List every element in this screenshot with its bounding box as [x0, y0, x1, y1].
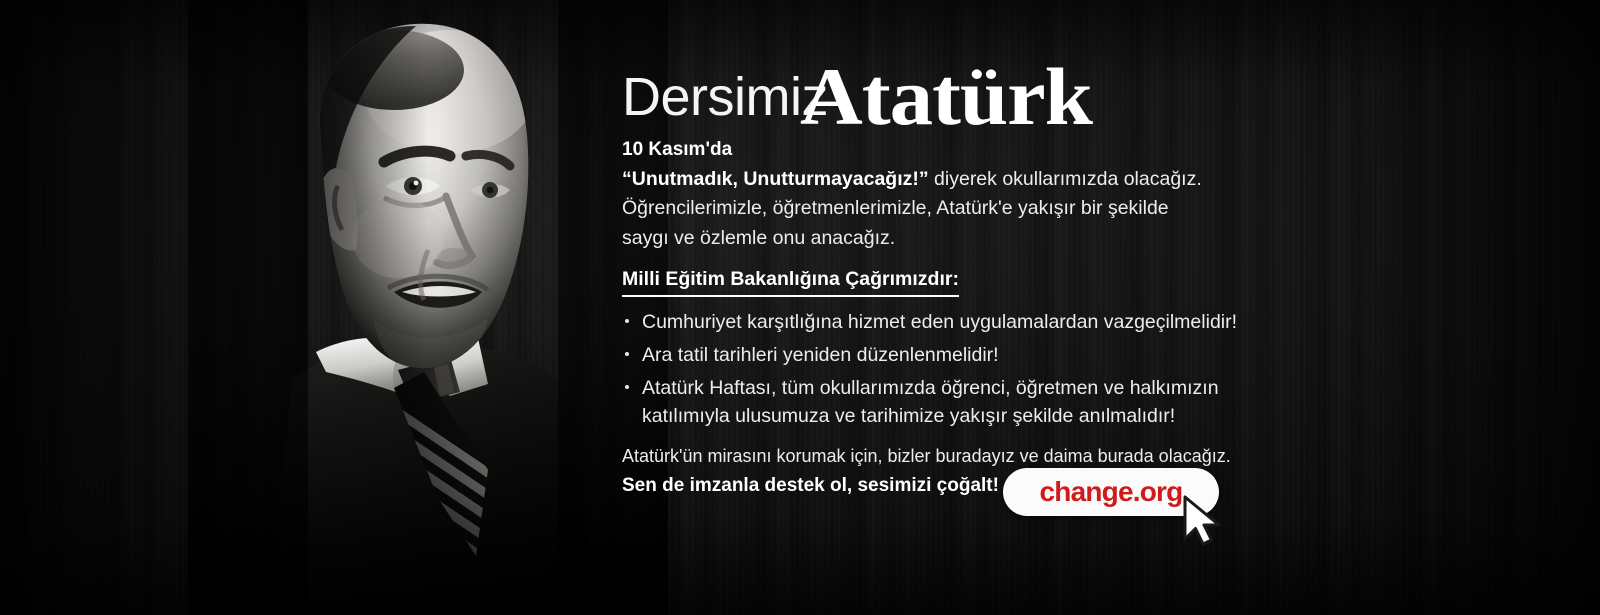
intro-line-quote: “Unutmadık, Unutturmayacağız!” diyerek o…: [622, 165, 1282, 195]
ataturk-portrait: [188, 0, 668, 615]
banner-content: Dersimiz Atatürk 10 Kasım'da “Unutmadık,…: [622, 56, 1282, 500]
change-org-button-label: change.org: [1040, 478, 1183, 506]
list-item: Atatürk Haftası, tüm okullarımızda öğren…: [622, 374, 1282, 430]
intro-quote: “Unutmadık, Unutturmayacağız!”: [622, 168, 929, 190]
demand-text: Ara tatil tarihleri yeniden düzenlenmeli…: [642, 344, 999, 366]
ataturk-campaign-banner: Dersimiz Atatürk 10 Kasım'da “Unutmadık,…: [0, 0, 1600, 615]
change-org-button[interactable]: change.org: [1003, 468, 1219, 516]
demands-list: Cumhuriyet karşıtlığına hizmet eden uygu…: [622, 308, 1282, 430]
list-item: Cumhuriyet karşıtlığına hizmet eden uygu…: [622, 308, 1282, 336]
title-word-ataturk: Atatürk: [800, 56, 1092, 138]
demand-text: Atatürk Haftası, tüm okullarımızda öğren…: [642, 377, 1219, 427]
intro-line-3: saygı ve özlemle onu anacağız.: [622, 224, 1282, 254]
demand-text: Cumhuriyet karşıtlığına hizmet eden uygu…: [642, 311, 1237, 333]
intro-line-2: Öğrencilerimizle, öğretmenlerimizle, Ata…: [622, 194, 1282, 224]
bullet-icon: [625, 319, 629, 323]
page-title: Dersimiz Atatürk: [622, 56, 1282, 130]
bullet-icon: [625, 385, 629, 389]
title-word-dersimiz: Dersimiz: [622, 70, 828, 124]
list-item: Ara tatil tarihleri yeniden düzenlenmeli…: [622, 341, 1282, 369]
demands-heading: Milli Eğitim Bakanlığına Çağrımızdır:: [622, 266, 959, 296]
bullet-icon: [625, 352, 629, 356]
closing-paragraph: Atatürk'ün mirasını korumak için, bizler…: [622, 443, 1282, 470]
intro-quote-rest: diyerek okullarımızda olacağız.: [929, 168, 1202, 190]
